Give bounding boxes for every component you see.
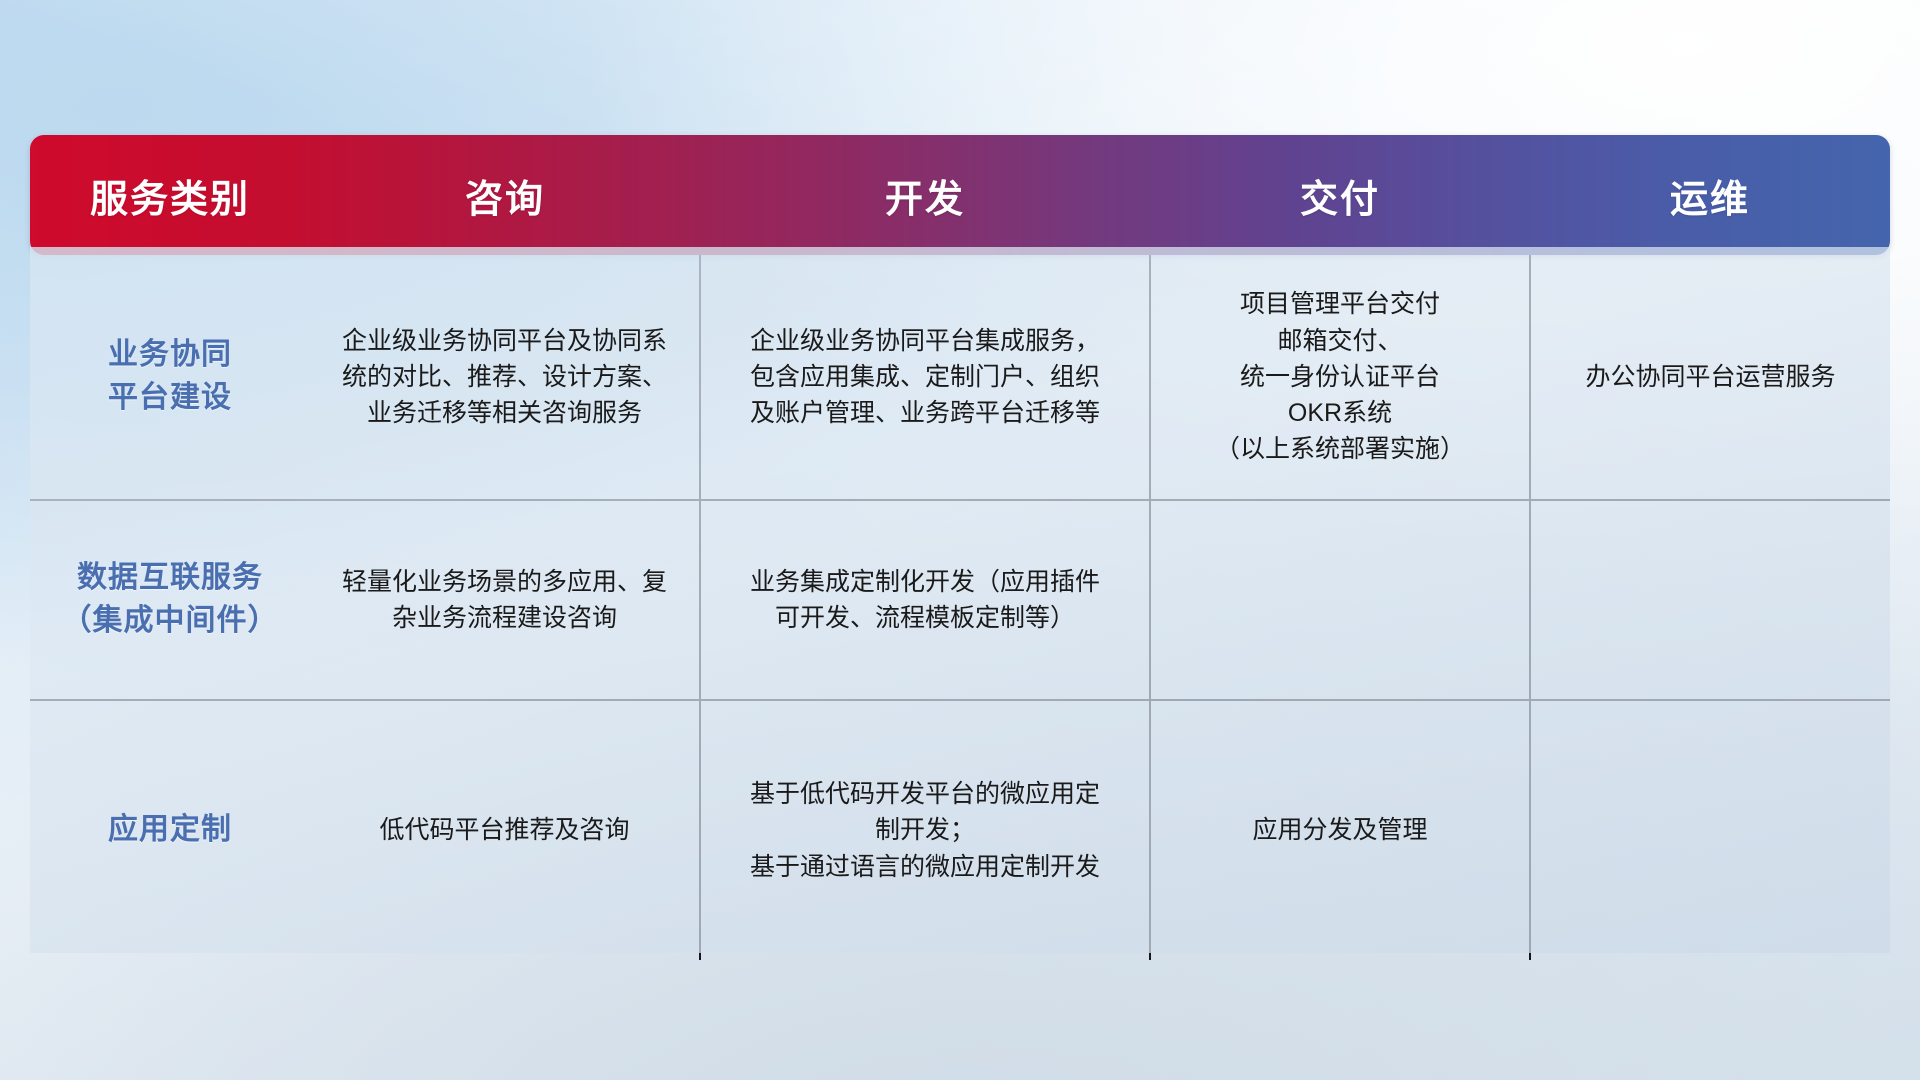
cell-development-text: 业务集成定制化开发（应用插件 可开发、流程模板定制等） [715,564,1135,637]
cell-delivery: 应用分发及管理 [1150,700,1530,960]
header-row: 服务类别 咨询 开发 交付 运维 [30,135,1890,255]
service-matrix-table: 服务类别 咨询 开发 交付 运维 [30,135,1890,955]
cell-delivery: 项目管理平台交付 邮箱交付、 统一身份认证平台 OKR系统 （以上系统部署实施） [1150,255,1530,500]
column-header-development[interactable]: 开发 [700,135,1150,255]
cell-operations: 办公协同平台运营服务 [1530,255,1890,500]
cell-consulting-text: 低代码平台推荐及咨询 [324,812,685,848]
table-row: 业务协同 平台建设 企业级业务协同平台及协同系 统的对比、推荐、设计方案、 业务… [30,255,1890,500]
cell-development: 企业级业务协同平台集成服务， 包含应用集成、定制门户、组织 及账户管理、业务跨平… [700,255,1150,500]
cell-consulting: 企业级业务协同平台及协同系 统的对比、推荐、设计方案、 业务迁移等相关咨询服务 [310,255,700,500]
cell-consulting-text: 轻量化业务场景的多应用、复 杂业务流程建设咨询 [324,564,685,637]
cell-consulting-text: 企业级业务协同平台及协同系 统的对比、推荐、设计方案、 业务迁移等相关咨询服务 [324,323,685,432]
table-header: 服务类别 咨询 开发 交付 运维 [30,135,1890,255]
row-category-cell: 业务协同 平台建设 [30,255,310,500]
cell-development: 基于低代码开发平台的微应用定 制开发； 基于通过语言的微应用定制开发 [700,700,1150,960]
cell-delivery [1150,500,1530,700]
column-header-category[interactable]: 服务类别 [30,135,310,255]
table-row: 应用定制 低代码平台推荐及咨询 基于低代码开发平台的微应用定 制开发； 基于通过… [30,700,1890,960]
column-header-delivery[interactable]: 交付 [1150,135,1530,255]
row-category-cell: 应用定制 [30,700,310,960]
cell-consulting: 轻量化业务场景的多应用、复 杂业务流程建设咨询 [310,500,700,700]
column-header-category-label: 服务类别 [30,168,310,223]
cell-development-text: 企业级业务协同平台集成服务， 包含应用集成、定制门户、组织 及账户管理、业务跨平… [715,323,1135,432]
row-category-cell: 数据互联服务 （集成中间件） [30,500,310,700]
cell-consulting: 低代码平台推荐及咨询 [310,700,700,960]
table-row: 数据互联服务 （集成中间件） 轻量化业务场景的多应用、复 杂业务流程建设咨询 业… [30,500,1890,700]
column-header-consulting-label: 咨询 [310,168,700,223]
cell-development-text: 基于低代码开发平台的微应用定 制开发； 基于通过语言的微应用定制开发 [715,776,1135,885]
matrix-table: 服务类别 咨询 开发 交付 运维 [30,135,1890,960]
cell-delivery-text: 项目管理平台交付 邮箱交付、 统一身份认证平台 OKR系统 （以上系统部署实施） [1165,286,1515,467]
cell-development: 业务集成定制化开发（应用插件 可开发、流程模板定制等） [700,500,1150,700]
cell-operations [1530,700,1890,960]
column-header-operations[interactable]: 运维 [1530,135,1890,255]
slide-canvas: 服务类别 咨询 开发 交付 运维 [0,0,1920,1080]
row-category-label: 业务协同 平台建设 [44,334,296,419]
cell-operations [1530,500,1890,700]
table-body: 业务协同 平台建设 企业级业务协同平台及协同系 统的对比、推荐、设计方案、 业务… [30,255,1890,960]
cell-operations-text: 办公协同平台运营服务 [1545,359,1876,395]
column-header-delivery-label: 交付 [1150,168,1530,223]
row-category-label: 应用定制 [44,809,296,852]
column-header-operations-label: 运维 [1530,168,1890,223]
column-header-development-label: 开发 [700,168,1150,223]
row-category-label: 数据互联服务 （集成中间件） [44,557,296,642]
column-header-consulting[interactable]: 咨询 [310,135,700,255]
cell-delivery-text: 应用分发及管理 [1165,812,1515,848]
